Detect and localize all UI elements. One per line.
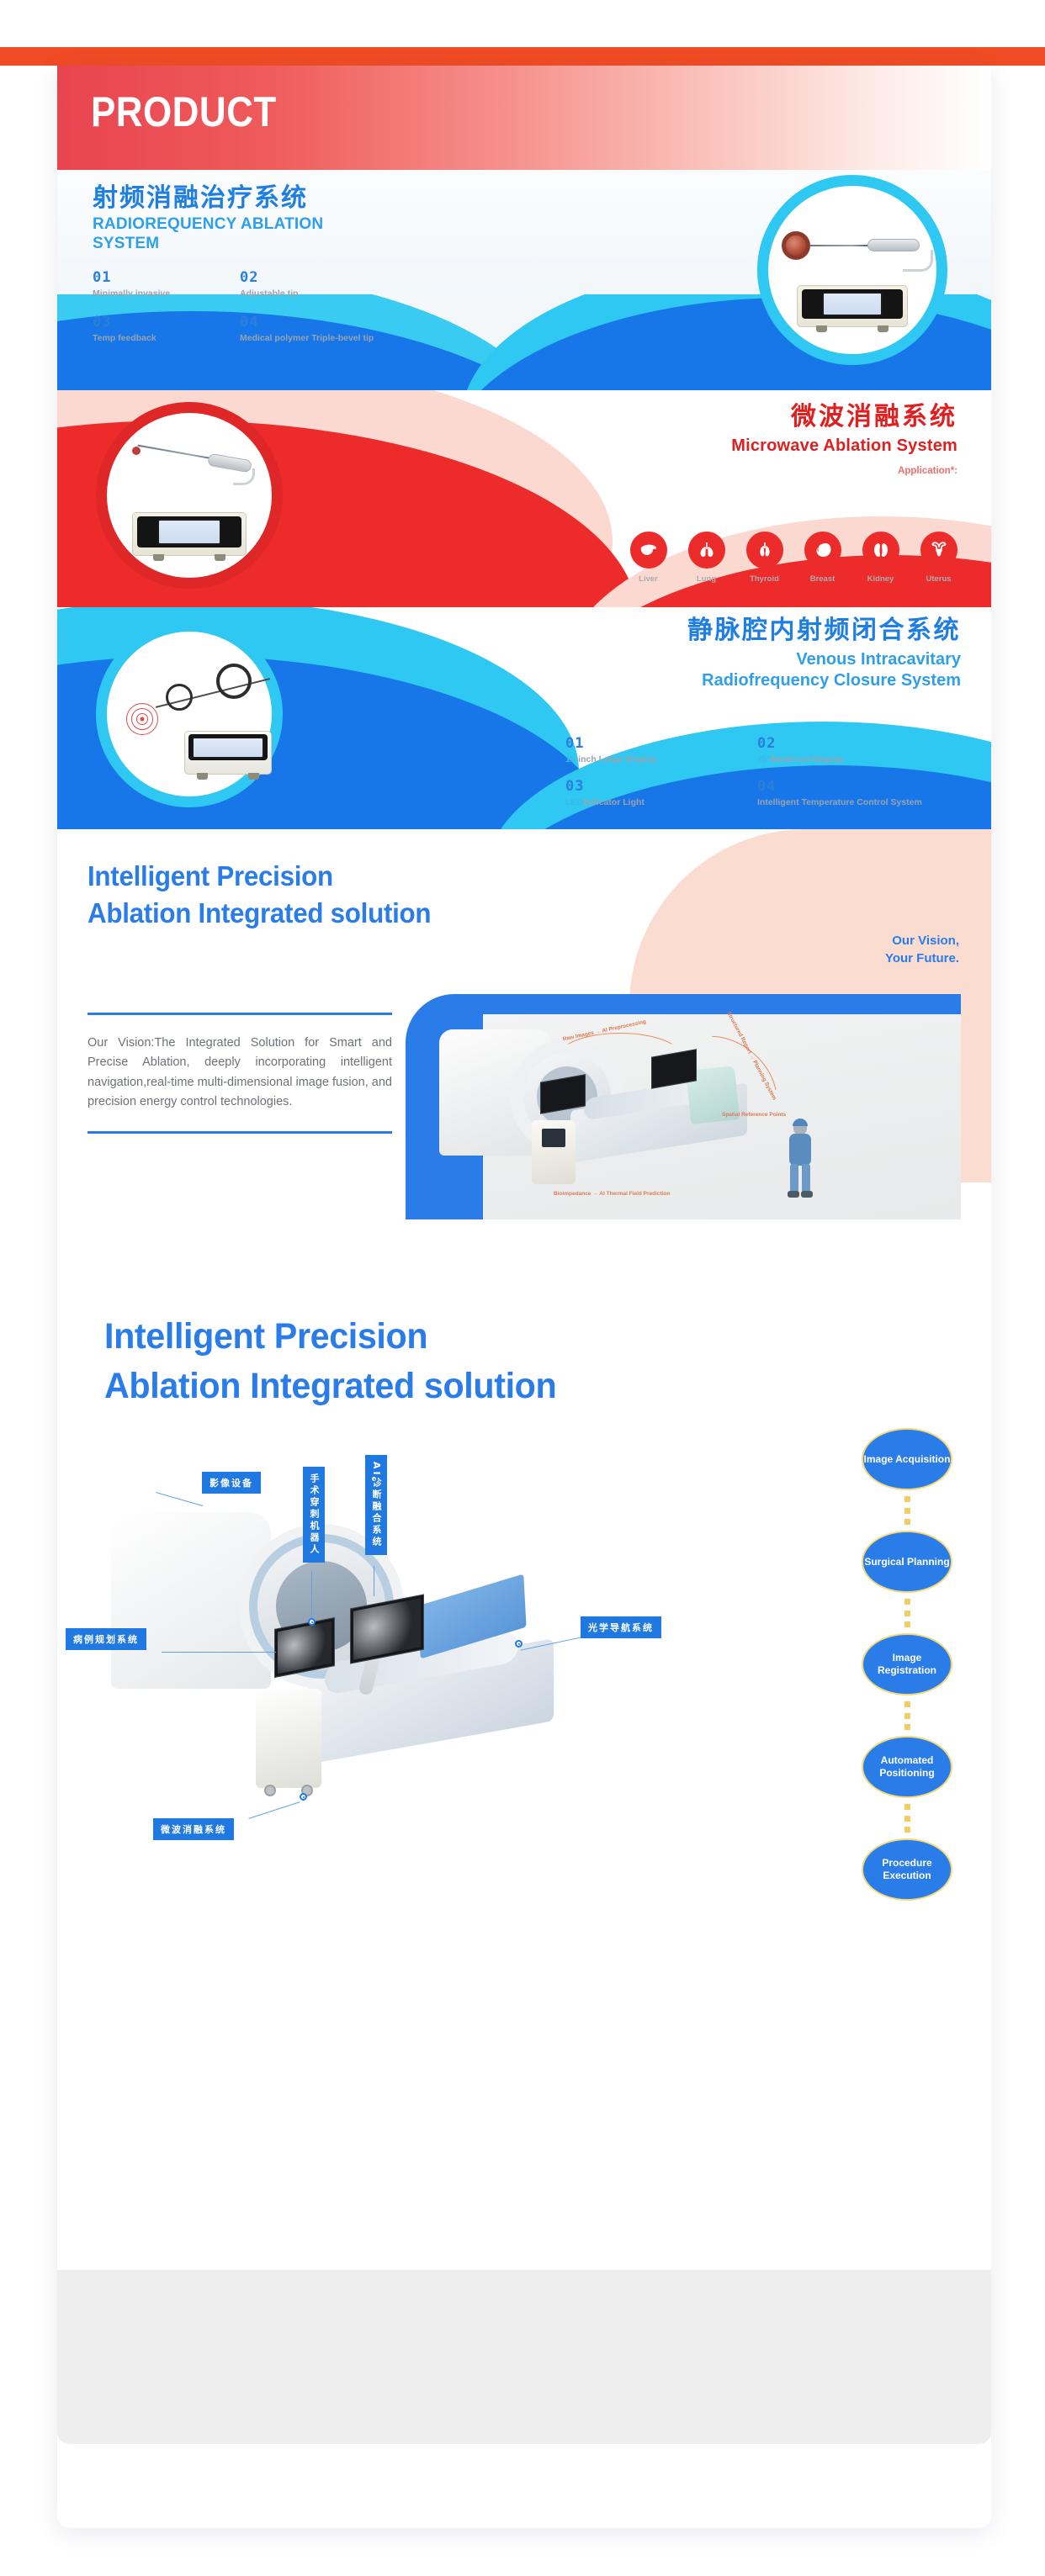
section1-titles: 射频消融治疗系统 RADIOREQUENCY ABLATION SYSTEM (93, 183, 370, 254)
flow-connector (862, 1490, 952, 1531)
workflow-flow-chain: Image Acquisition Surgical Planning Imag… (862, 1428, 952, 1901)
callout-dot (308, 1618, 316, 1626)
microwave-ablation-cart (256, 1689, 321, 1788)
device-leg (878, 325, 889, 332)
feature-rest: -inch Large Display (576, 754, 657, 764)
rf-generator-device (797, 285, 908, 327)
flow-connector (862, 1798, 952, 1838)
section-radiofrequency-ablation: 射频消融治疗系统 RADIOREQUENCY ABLATION SYSTEM 0… (57, 170, 991, 390)
clinician-shoe (801, 1191, 813, 1198)
product-page: PRODUCT 射频消融治疗系统 RADIOREQUENCY ABLATION … (0, 0, 1045, 2576)
feature-rest: Intelligent Temperature Control System (757, 797, 922, 807)
section3-titles: 静脉腔内射频闭合系统 Venous Intracavitary Radiofre… (687, 616, 961, 691)
product-header: PRODUCT (57, 66, 991, 170)
section5-title-line1: Intelligent Precision (104, 1312, 556, 1362)
vision-statement-box: Our Vision:The Integrated Solution for S… (88, 1013, 392, 1134)
section2-cn-title: 微波消融系统 (731, 402, 957, 432)
organ-name: Liver (629, 574, 667, 584)
device-leg (816, 325, 827, 332)
feature-label: Adjustable tip (240, 288, 387, 299)
flow-node-procedure-execution[interactable]: Procedure Execution (862, 1838, 952, 1901)
feature-label: LEDIndicator Light (565, 797, 757, 807)
device-leg (197, 773, 208, 780)
thyroid-icon (746, 532, 783, 569)
feature-rest: Indicator Light (583, 797, 645, 807)
feature-number: 02 (757, 735, 961, 752)
feature-item: 04 Medical polymer Triple-bevel tip (240, 314, 387, 343)
organ-item: Thyroid (745, 532, 783, 584)
feature-number: 01 (565, 735, 757, 752)
needle-probe-icon (810, 245, 869, 246)
microwave-device-photo-circle (96, 402, 283, 589)
section-vision: Intelligent Precision Ablation Integrate… (57, 829, 991, 1235)
section3-en-title-line1: Venous Intracavitary (687, 649, 961, 670)
leader-line (162, 1652, 276, 1653)
section4-title: Intelligent Precision Ablation Integrate… (88, 858, 431, 932)
application-label: Application*: (731, 466, 957, 476)
organ-item: Breast (804, 532, 841, 584)
microwave-antenna-icon (138, 445, 218, 461)
section1-feature-grid: 01 Minimally invasive 02 Adjustable tip … (93, 269, 480, 343)
feature-label: Intelligent Temperature Control System (757, 797, 961, 807)
clinician-cap (793, 1119, 808, 1126)
label-case-planning-system: 病例规划系统 (66, 1628, 146, 1650)
feature-item: 01 Minimally invasive (93, 269, 240, 299)
feature-item: 03 LEDIndicator Light (565, 778, 757, 807)
application-organ-list: Liver Lung (629, 532, 957, 584)
feature-label: Minimally invasive (93, 288, 240, 299)
card-bottom-strip (57, 2270, 991, 2444)
annotation-spatial-reference: Spatial Reference Points (722, 1112, 786, 1118)
cart-screen (542, 1129, 565, 1147)
vision-statement-text: Our Vision:The Integrated Solution for S… (88, 1034, 392, 1113)
device-screen (822, 292, 883, 317)
cart-wheel (264, 1785, 276, 1796)
integrated-room-illustration: 影像设备 手术穿刺机器人 AI诊断融合系统 病例规划系统 光学导航系统 微波消融… (82, 1478, 789, 1849)
section3-cn-title: 静脉腔内射频闭合系统 (687, 616, 961, 646)
microwave-generator-device (132, 512, 247, 556)
section3-feature-grid: 01 10-inch Large Display 02 75°Bezel-cut… (565, 735, 961, 807)
catheter-loop-icon (216, 664, 252, 699)
section1-cn-title: 射频消融治疗系统 (93, 183, 370, 213)
vision-tagline-line2: Your Future. (885, 949, 959, 967)
organ-item: Liver (629, 532, 667, 584)
callout-dot (515, 1640, 522, 1648)
organ-name: Kidney (862, 574, 899, 584)
annotation-bioimpedance: Bioimpedance → AI Thermal Field Predicti… (554, 1191, 670, 1197)
uterus-icon (920, 532, 957, 569)
clinician-shoe (788, 1191, 799, 1198)
flow-node-image-acquisition[interactable]: Image Acquisition (862, 1428, 952, 1490)
feature-item: 04 Intelligent Temperature Control Syste… (757, 778, 961, 807)
feature-label: 10-inch Large Display (565, 754, 757, 764)
organ-item: Kidney (862, 532, 899, 584)
clinician-torso (789, 1134, 811, 1166)
leader-line (248, 1801, 300, 1819)
microwave-cable-icon (233, 468, 255, 485)
feature-item: 02 Adjustable tip (240, 269, 387, 299)
feature-label: 75°Bezel-cut Display (757, 754, 961, 764)
label-microwave-ablation-system: 微波消融系统 (153, 1818, 234, 1840)
top-accent-bar (0, 47, 1045, 66)
tumor-illustration-icon (782, 231, 810, 260)
section-venous-closure: 静脉腔内射频闭合系统 Venous Intracavitary Radiofre… (57, 607, 991, 829)
flow-connector (862, 1593, 952, 1633)
section5-title: Intelligent Precision Ablation Integrate… (104, 1312, 556, 1412)
organ-name: Uterus (920, 574, 957, 584)
rf-device-photo-circle (757, 175, 947, 365)
leader-line (374, 1566, 374, 1596)
divider-bottom (88, 1131, 392, 1134)
section3-en-title-line2: Radiofrequency Closure System (687, 670, 961, 691)
catheter-loop-icon (166, 684, 193, 711)
flow-connector (862, 1695, 952, 1736)
organ-item: Uterus (920, 532, 957, 584)
feature-highlight: 10 (565, 754, 576, 764)
feature-number: 04 (757, 778, 961, 795)
venous-console-device (184, 731, 272, 775)
rf-cable-icon (903, 250, 933, 272)
feature-label: Temp feedback (93, 333, 240, 343)
clinician-figure (786, 1120, 814, 1198)
feature-number: 03 (565, 778, 757, 795)
device-leg (248, 773, 259, 780)
feature-rest: Bezel-cut Display (771, 754, 844, 764)
device-screen (157, 519, 220, 545)
section2-titles: 微波消融系统 Microwave Ablation System Applica… (731, 402, 957, 476)
feature-number: 02 (240, 269, 387, 286)
feature-number: 04 (240, 314, 387, 331)
clinician-leg (790, 1164, 798, 1193)
breast-icon (804, 532, 841, 569)
clinician-leg (802, 1164, 810, 1193)
feature-item: 02 75°Bezel-cut Display (757, 735, 961, 764)
feature-highlight: LED (565, 797, 583, 807)
callout-dot (300, 1793, 307, 1801)
device-leg (153, 554, 164, 561)
section1-en-title: RADIOREQUENCY ABLATION SYSTEM (93, 215, 370, 254)
section4-title-line1: Intelligent Precision (88, 858, 431, 895)
feature-highlight: 75° (757, 754, 771, 764)
target-crosshair-icon (120, 697, 164, 741)
flow-arc (557, 1033, 683, 1083)
label-optical-navigation: 光学导航系统 (581, 1616, 661, 1638)
device-screen (192, 737, 264, 759)
feature-label: Medical polymer Triple-bevel tip (240, 333, 387, 343)
content-card: PRODUCT 射频消融治疗系统 RADIOREQUENCY ABLATION … (57, 66, 991, 2528)
label-puncture-robot: 手术穿刺机器人 (303, 1467, 325, 1563)
divider-top (88, 1013, 392, 1015)
flow-node-surgical-planning[interactable]: Surgical Planning (862, 1531, 952, 1593)
antenna-tip-icon (132, 447, 141, 455)
section5-title-line2: Ablation Integrated solution (104, 1362, 556, 1411)
section2-en-title: Microwave Ablation System (731, 436, 957, 456)
flow-node-image-registration[interactable]: Image Registration (862, 1633, 952, 1695)
feature-number: 03 (93, 314, 240, 331)
feature-item: 03 Temp feedback (93, 314, 240, 343)
monitor-image (278, 1621, 332, 1674)
liver-icon (630, 532, 667, 569)
feature-number: 01 (93, 269, 240, 286)
vision-tagline-line1: Our Vision, (885, 932, 959, 949)
lung-icon (688, 532, 725, 569)
monitor-image (353, 1598, 421, 1660)
organ-name: Thyroid (745, 574, 783, 584)
label-ai-diagnosis-fusion: AI诊断融合系统 (365, 1455, 387, 1555)
section-integrated-solution: Intelligent Precision Ablation Integrate… (57, 1235, 991, 2444)
vision-tagline: Our Vision, Your Future. (885, 932, 959, 967)
flow-node-automated-positioning[interactable]: Automated Positioning (862, 1736, 952, 1798)
ai-workflow-illustration: Raw Images → AI Preprocessing Structured… (406, 994, 961, 1219)
page-title: PRODUCT (91, 87, 277, 136)
label-imaging-equipment: 影像设备 (202, 1472, 261, 1494)
leader-line (311, 1571, 312, 1620)
organ-item: Lung (687, 532, 725, 584)
ablation-cart (532, 1120, 576, 1184)
organ-name: Breast (804, 574, 841, 584)
venous-device-photo-circle (96, 621, 283, 807)
device-leg (215, 554, 225, 561)
feature-item: 01 10-inch Large Display (565, 735, 757, 764)
kidney-icon (862, 532, 899, 569)
section-microwave-ablation: 微波消融系统 Microwave Ablation System Applica… (57, 390, 991, 607)
section4-title-line2: Ablation Integrated solution (88, 895, 431, 932)
callout-dot (370, 1475, 378, 1483)
leader-line (156, 1492, 203, 1506)
organ-name: Lung (687, 574, 725, 584)
